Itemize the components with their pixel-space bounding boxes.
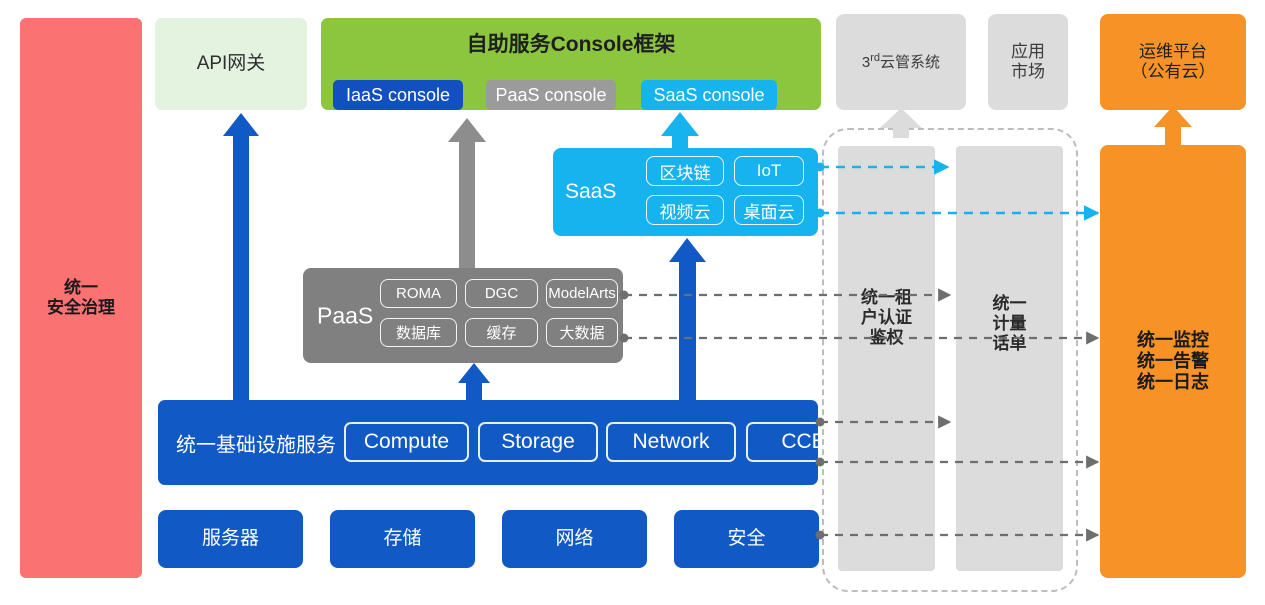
app-market-label: 应用 市场 — [1011, 42, 1045, 82]
arrow-infra-to-saas — [669, 238, 706, 401]
arrow-infra-to-paas — [458, 363, 490, 402]
third-party-cloud-mgmt-label: 3rd云管系统 — [862, 52, 940, 72]
api-gateway-label: API网关 — [197, 53, 266, 75]
arrow-paas-to-console — [448, 118, 486, 268]
saas-item-iot[interactable]: IoT — [734, 156, 804, 186]
architecture-diagram: 统一 安全治理 API网关 自助服务Console框架 IaaS console… — [0, 0, 1265, 605]
console-framework-box: 自助服务Console框架 IaaS console PaaS console … — [321, 18, 821, 110]
paas-label: PaaS — [317, 302, 373, 329]
hardware-security-label: 安全 — [727, 528, 765, 550]
saas-item-desktop-cloud[interactable]: 桌面云 — [734, 195, 804, 225]
paas-item-modelarts[interactable]: ModelArts — [546, 279, 618, 308]
third-party-cloud-mgmt-box: 3rd云管系统 — [836, 14, 966, 110]
console-framework-title: 自助服务Console框架 — [321, 28, 821, 58]
saas-label: SaaS — [565, 180, 616, 204]
security-governance-label: 统一 安全治理 — [47, 278, 115, 318]
saas-console-pill[interactable]: SaaS console — [641, 80, 777, 110]
hardware-network-label: 网络 — [555, 528, 593, 550]
saas-item-video-cloud[interactable]: 视频云 — [646, 195, 724, 225]
saas-box: SaaS 区块链 IoT 视频云 桌面云 — [553, 148, 818, 236]
hardware-item-storage: 存储 — [330, 510, 475, 568]
infra-item-compute[interactable]: Compute — [344, 422, 469, 462]
paas-box: PaaS ROMA DGC ModelArts 数据库 缓存 大数据 — [303, 268, 623, 363]
paas-item-roma[interactable]: ROMA — [380, 279, 457, 308]
hardware-item-security: 安全 — [674, 510, 819, 568]
saas-item-blockchain[interactable]: 区块链 — [646, 156, 724, 186]
ops-platform-box: 运维平台 （公有云） — [1100, 14, 1246, 110]
hardware-item-server: 服务器 — [158, 510, 303, 568]
infra-item-network[interactable]: Network — [606, 422, 736, 462]
security-governance-pillar: 统一 安全治理 — [20, 18, 142, 578]
infrastructure-box: 统一基础设施服务 Compute Storage Network CCE — [158, 400, 818, 485]
ops-platform-label: 运维平台 （公有云） — [1131, 42, 1216, 82]
unified-monitoring-label: 统一监控 统一告警 统一日志 — [1137, 330, 1209, 394]
paas-item-cache[interactable]: 缓存 — [465, 318, 538, 347]
app-market-box: 应用 市场 — [988, 14, 1068, 110]
paas-console-pill[interactable]: PaaS console — [486, 80, 616, 110]
unified-metering-column: 统一 计量 话单 — [956, 146, 1063, 571]
arrow-saas-to-saas-console — [661, 112, 699, 150]
infrastructure-label: 统一基础设施服务 — [176, 428, 336, 457]
iaas-console-pill[interactable]: IaaS console — [333, 80, 463, 110]
paas-item-database[interactable]: 数据库 — [380, 318, 457, 347]
unified-tenant-auth-label: 统一租 户认证 鉴权 — [838, 288, 935, 348]
paas-item-bigdata[interactable]: 大数据 — [546, 318, 618, 347]
hardware-storage-label: 存储 — [383, 528, 421, 550]
unified-monitoring-pillar: 统一监控 统一告警 统一日志 — [1100, 145, 1246, 578]
unified-tenant-auth-column: 统一租 户认证 鉴权 — [838, 146, 935, 571]
hardware-server-label: 服务器 — [202, 528, 259, 550]
arrow-to-ops-platform — [1154, 106, 1192, 146]
unified-metering-label: 统一 计量 话单 — [956, 294, 1063, 354]
hardware-item-network: 网络 — [502, 510, 647, 568]
arrow-infra-to-api-gateway — [223, 113, 259, 400]
infra-item-storage[interactable]: Storage — [478, 422, 598, 462]
paas-item-dgc[interactable]: DGC — [465, 279, 538, 308]
api-gateway-box: API网关 — [155, 18, 307, 110]
